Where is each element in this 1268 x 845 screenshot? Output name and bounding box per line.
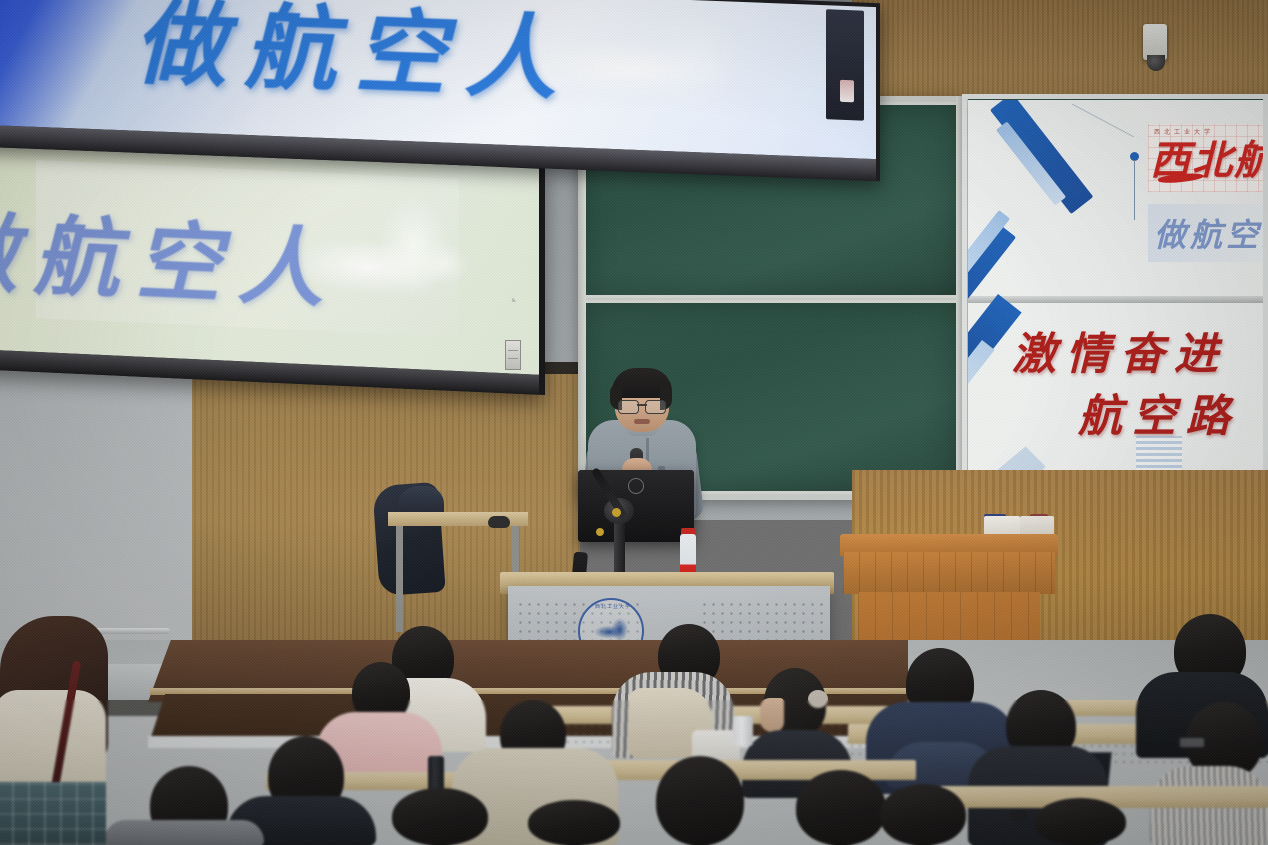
- glasses-icon: [1178, 736, 1206, 749]
- podium-collar: [843, 552, 1055, 594]
- lecture-hall-photo: 西北工业大学 西北航 做航空人 激情奋进 航空路 做航空人 ◔ 做航空人: [0, 0, 1268, 845]
- boom-knob-icon[interactable]: [612, 508, 621, 517]
- left-wall: [0, 360, 192, 660]
- list-item: [1034, 798, 1126, 845]
- list-item: [880, 784, 966, 845]
- computer-mouse-icon[interactable]: [1010, 810, 1028, 821]
- banner-dot-stem: [1134, 160, 1135, 220]
- computer-mouse-icon[interactable]: [488, 516, 510, 528]
- lower-projection-screen: 做航空人 ◔: [0, 137, 545, 395]
- screen-indicator-light: [840, 80, 854, 103]
- lower-screen-surface: 做航空人: [0, 143, 539, 375]
- screen-speaker-icon: ◔: [501, 291, 523, 320]
- banner-chevron-inner-icon: [990, 130, 1100, 260]
- dell-logo-icon: [628, 478, 644, 494]
- list-item: [656, 756, 744, 845]
- student-face-profile: [760, 698, 784, 732]
- water-bottle: [733, 716, 753, 746]
- wall-banner: 西北工业大学 西北航 做航空人 激情奋进 航空路: [968, 100, 1268, 500]
- overhead-screen-calligraphy: 做航空人: [134, 0, 574, 119]
- wall-handrail: [92, 628, 170, 634]
- list-item: [796, 770, 886, 845]
- side-table-leg: [396, 526, 403, 632]
- list-item: [528, 800, 620, 845]
- banner-blue-subtitle: 做航空人: [1154, 210, 1268, 256]
- boom-knob-icon-2[interactable]: [596, 528, 604, 536]
- banner-slogan-line-1: 激情奋进: [1012, 318, 1228, 382]
- banner-slogan-line-2: 航空路: [1078, 380, 1240, 444]
- list-item: [392, 788, 488, 845]
- hair-tie: [808, 690, 828, 708]
- screen-side-panel: [826, 9, 864, 120]
- glasses-bridge-icon: [637, 404, 647, 406]
- glasses-icon: [618, 400, 666, 412]
- lower-screen-calligraphy: 做航空人: [0, 181, 339, 325]
- presenter-mouth: [634, 419, 650, 424]
- photographer-skirt: [0, 782, 106, 845]
- light-switch-panel[interactable]: [505, 340, 521, 370]
- list-item: [104, 820, 264, 845]
